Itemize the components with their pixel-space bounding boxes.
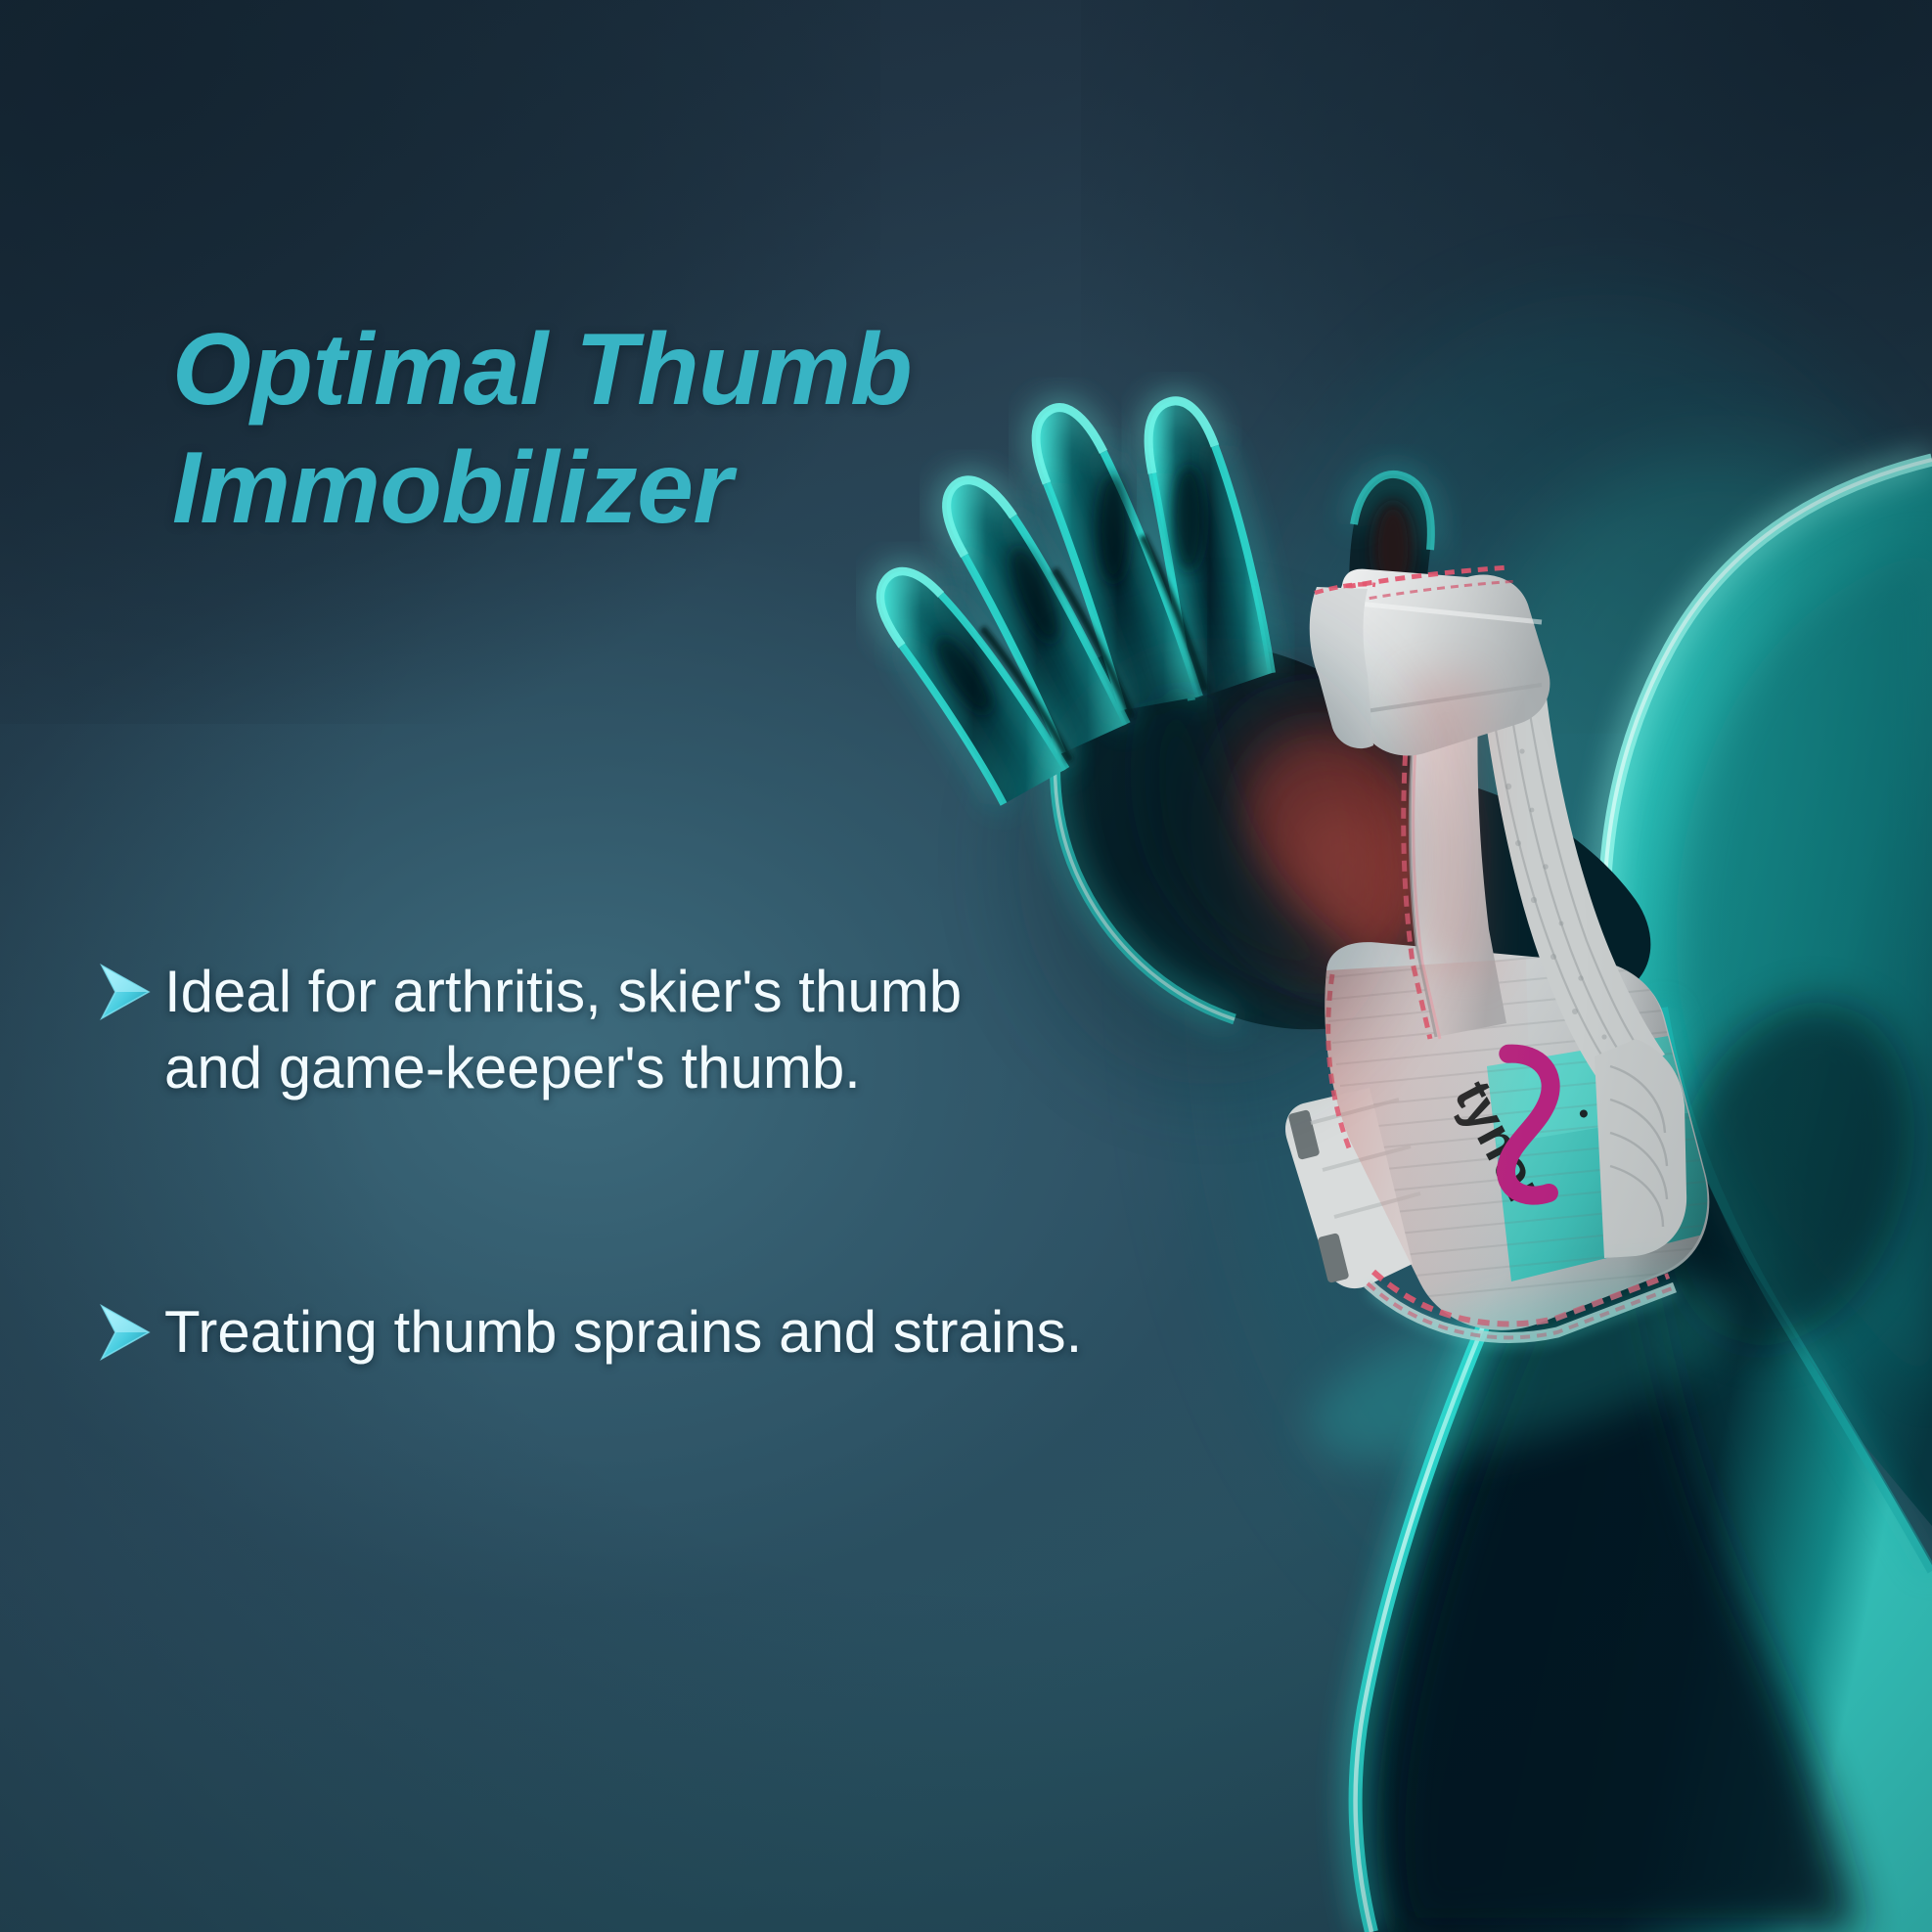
bullet-1-line-2: and game-keeper's thumb. [164, 1030, 962, 1106]
list-item-text: Ideal for arthritis, skier's thumb and g… [164, 954, 962, 1106]
list-item: Treating thumb sprains and strains. [98, 1294, 1105, 1370]
chevron-arrow-bullet-icon [98, 1300, 153, 1365]
chevron-arrow-bullet-icon [98, 960, 153, 1024]
page-title: Optimal Thumb Immobilizer [172, 311, 1150, 547]
bullet-2-line-1: Treating thumb sprains and strains. [164, 1294, 1082, 1370]
product-poster: tynor Optimal Thumb Immobilizer [0, 0, 1932, 1932]
headline-line-2: Immobilizer [172, 429, 1150, 548]
list-item-text: Treating thumb sprains and strains. [164, 1294, 1082, 1370]
bullet-1-line-1: Ideal for arthritis, skier's thumb [164, 954, 962, 1030]
headline-line-1: Optimal Thumb [172, 311, 1150, 429]
list-item: Ideal for arthritis, skier's thumb and g… [98, 954, 1105, 1106]
feature-list: Ideal for arthritis, skier's thumb and g… [98, 954, 1105, 1370]
